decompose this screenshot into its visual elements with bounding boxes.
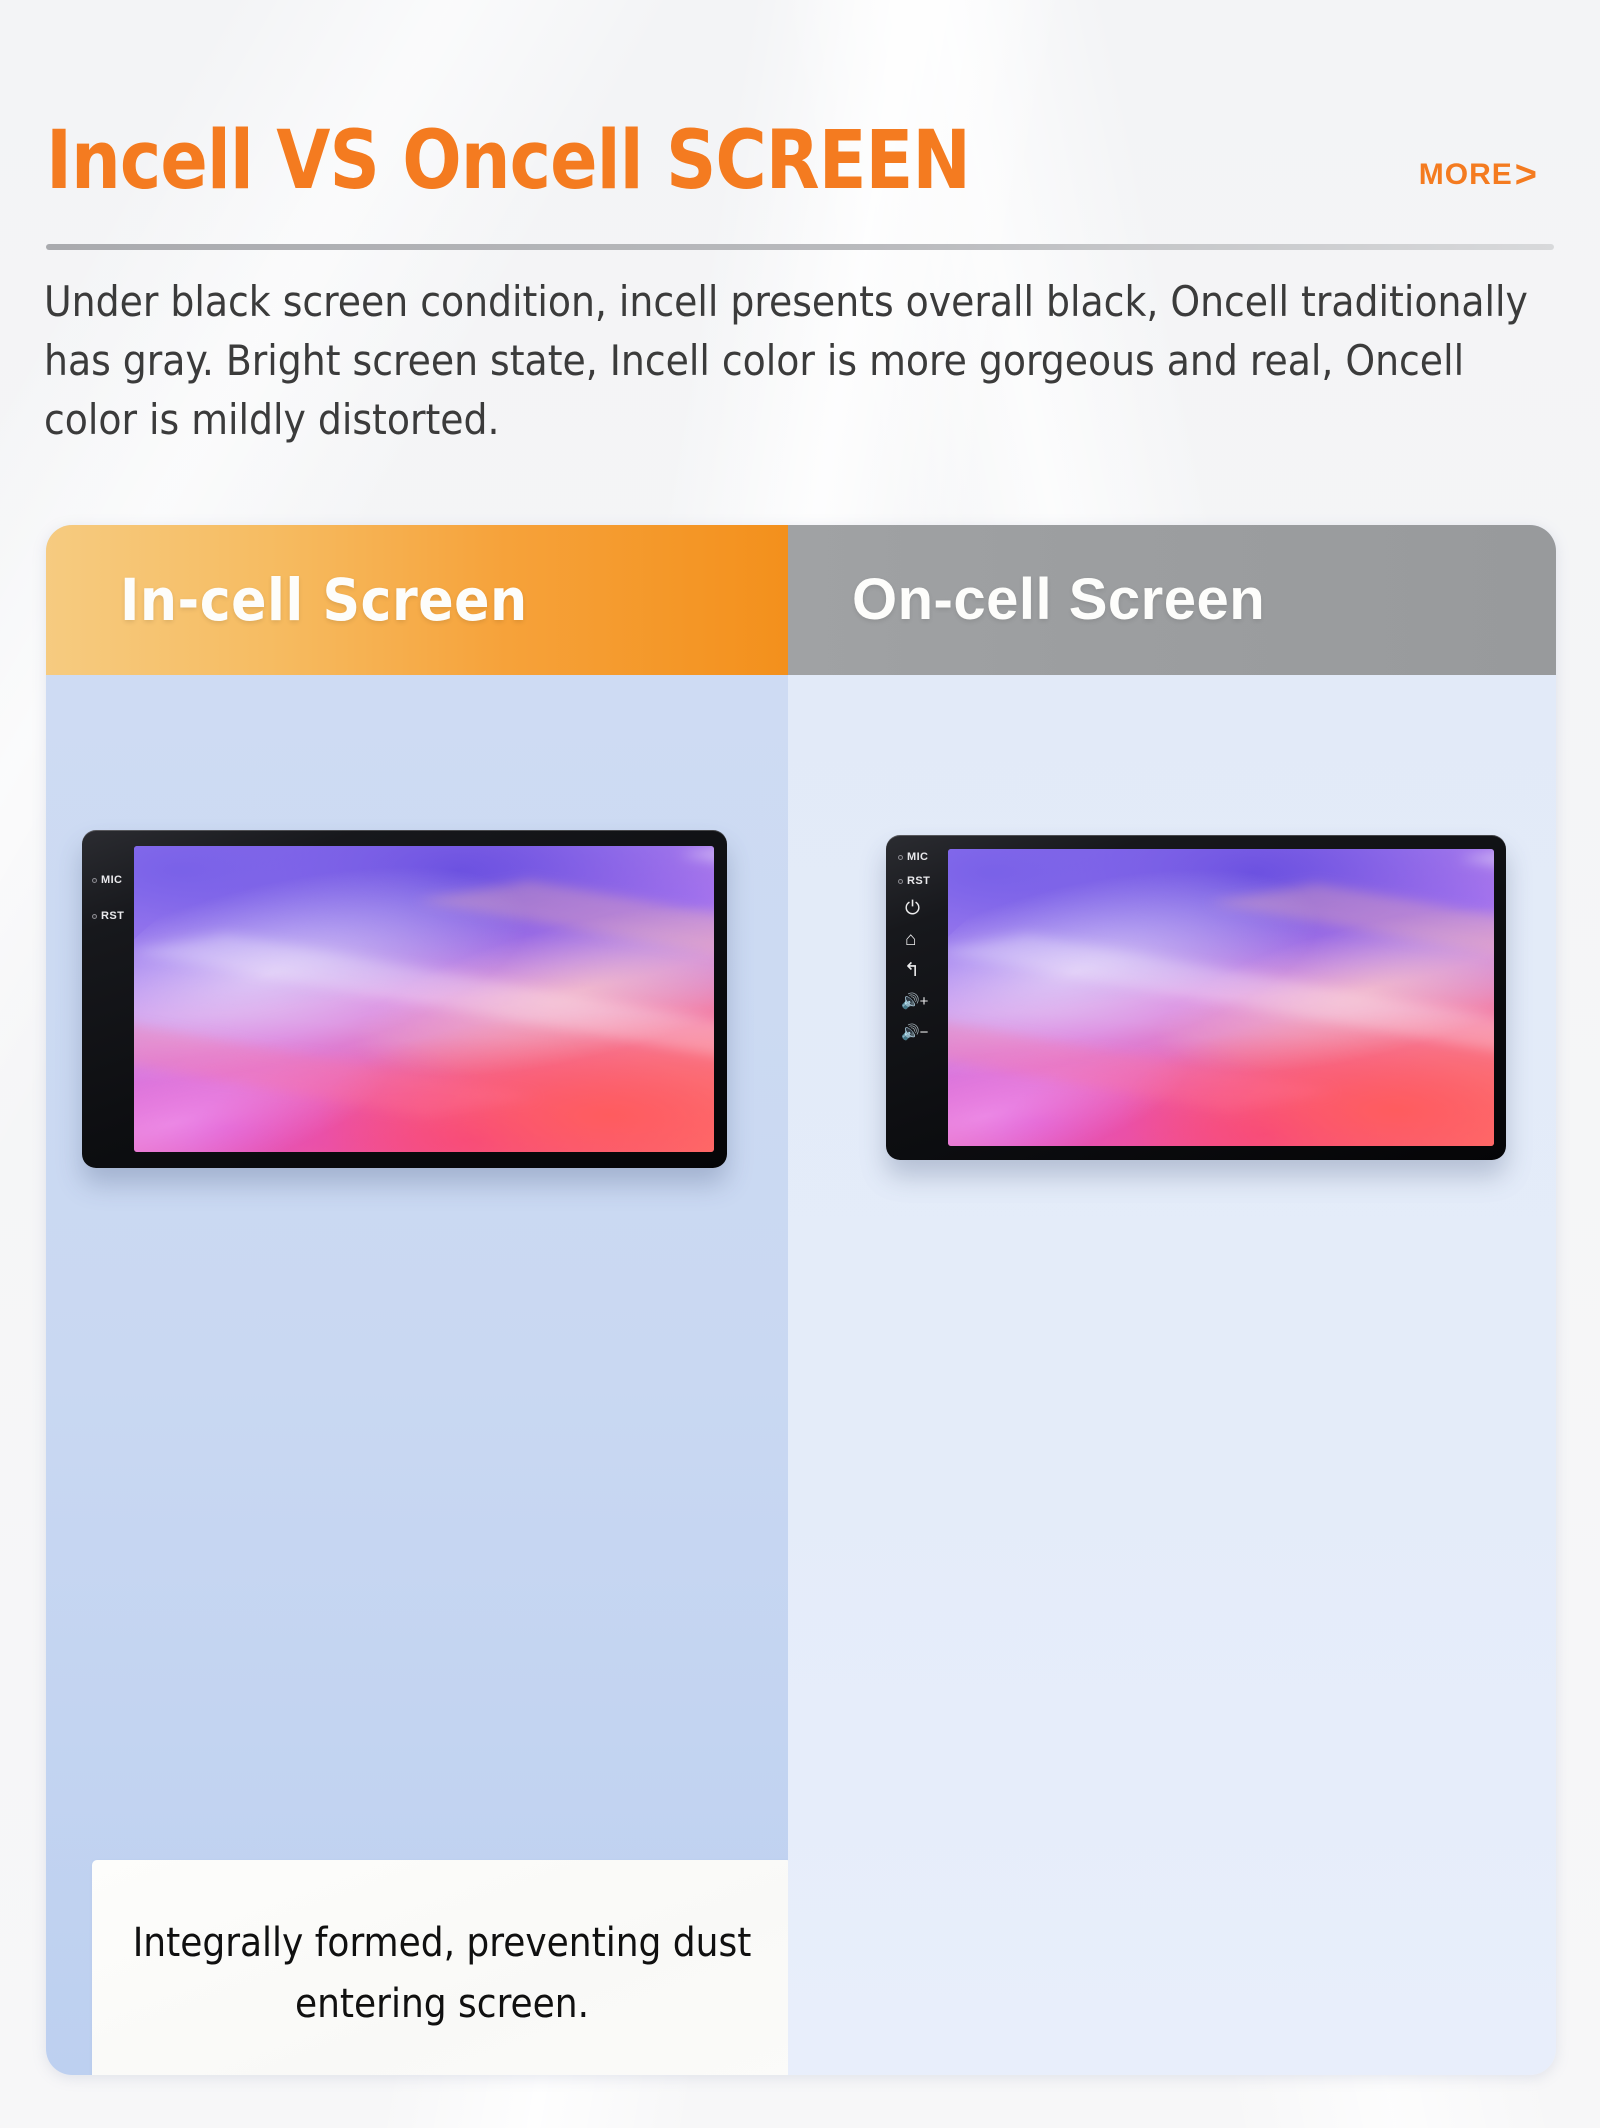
rst-dot-icon [92,914,97,919]
rst-label-group: RST [898,875,930,887]
incell-device-mockup: MIC RST [82,830,727,1168]
mic-label: MIC [907,851,928,863]
page-header: Incell VS Oncell SCREEN MORE > [46,118,1556,204]
incell-device-screen [134,846,714,1152]
incell-wallpaper [134,846,714,1152]
oncell-wallpaper [948,849,1494,1146]
mic-label-group: MIC [898,851,928,863]
oncell-device-mockup: MIC RST ⏻ ⌂ ↰ 🔊+ 🔊− [886,835,1506,1160]
incell-column-header: In-cell Screen [46,525,788,675]
power-icon[interactable]: ⏻ [905,899,920,918]
mic-dot-icon [92,878,97,883]
oncell-column-title: On-cell Screen [852,571,1265,629]
incell-device-bezel: MIC RST [82,830,727,1168]
chevron-right-icon: > [1515,160,1538,190]
comparison-card: In-cell Screen MIC RST [46,525,1556,2075]
incell-bezel-buttons: MIC RST [92,874,124,922]
incell-feature-dust: Integrally formed, preventing dust enter… [92,1860,792,2075]
back-icon[interactable]: ↰ [904,961,920,980]
volume-down-icon[interactable]: 🔊− [901,1023,928,1042]
oncell-bezel-buttons: MIC RST ⏻ ⌂ ↰ 🔊+ 🔊− [898,851,930,1042]
incell-column: In-cell Screen MIC RST [46,525,788,2075]
home-icon[interactable]: ⌂ [905,930,916,949]
rst-label: RST [101,910,124,922]
incell-column-title: In-cell Screen [120,571,528,629]
page-title: Incell VS Oncell SCREEN [46,118,970,204]
mic-label: MIC [101,874,122,886]
rst-dot-icon [898,879,903,884]
oncell-device-bezel: MIC RST ⏻ ⌂ ↰ 🔊+ 🔊− [886,835,1506,1160]
more-label: MORE [1419,158,1513,192]
oncell-device-screen [948,849,1494,1146]
page-root: Incell VS Oncell SCREEN MORE > Under bla… [0,0,1600,2128]
more-link[interactable]: MORE > [1419,158,1538,192]
mic-dot-icon [898,855,903,860]
page-subtitle: Under black screen condition, incell pre… [44,272,1564,449]
incell-feature-list: Integrally formed, preventing dust enter… [92,1860,792,2075]
volume-up-icon[interactable]: 🔊+ [901,992,928,1011]
oncell-column-header: On-cell Screen [788,525,1556,675]
header-divider [46,244,1554,250]
mic-label-group: MIC [92,874,122,886]
oncell-column: On-cell Screen MIC RST [788,525,1556,2075]
rst-label: RST [907,875,930,887]
rst-label-group: RST [92,910,124,922]
